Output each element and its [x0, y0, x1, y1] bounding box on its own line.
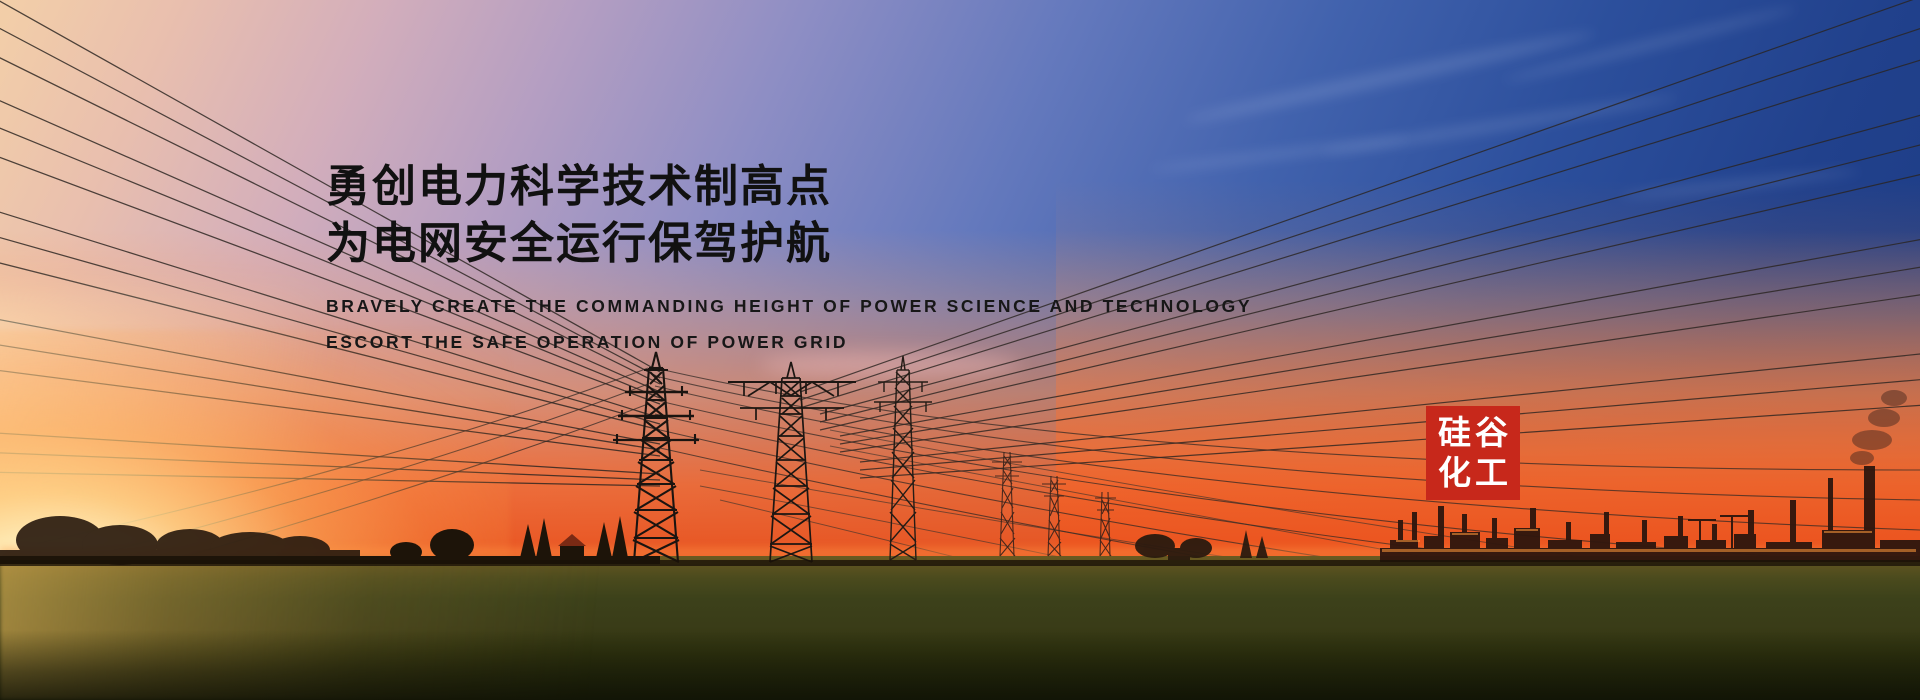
seal-text-top: 硅谷	[1434, 413, 1512, 453]
headline-cn-line-1: 勇创电力科学技术制高点	[326, 158, 1426, 215]
headline-en-line-1: BRAVELY CREATE THE COMMANDING HEIGHT OF …	[326, 288, 1426, 324]
banner-copy: 勇创电力科学技术制高点 为电网安全运行保驾护航 BRAVELY CREATE T…	[326, 158, 1426, 360]
field-foreground-shadow	[0, 630, 1920, 700]
seal-text-bottom: 化工	[1434, 453, 1512, 493]
company-seal-logo[interactable]: 硅谷 化工	[1426, 406, 1520, 500]
headline-cn-line-2: 为电网安全运行保驾护航	[326, 215, 1426, 272]
headline-en-line-2: ESCORT THE SAFE OPERATION OF POWER GRID	[326, 324, 1426, 360]
hero-banner: 勇创电力科学技术制高点 为电网安全运行保驾护航 BRAVELY CREATE T…	[0, 0, 1920, 700]
